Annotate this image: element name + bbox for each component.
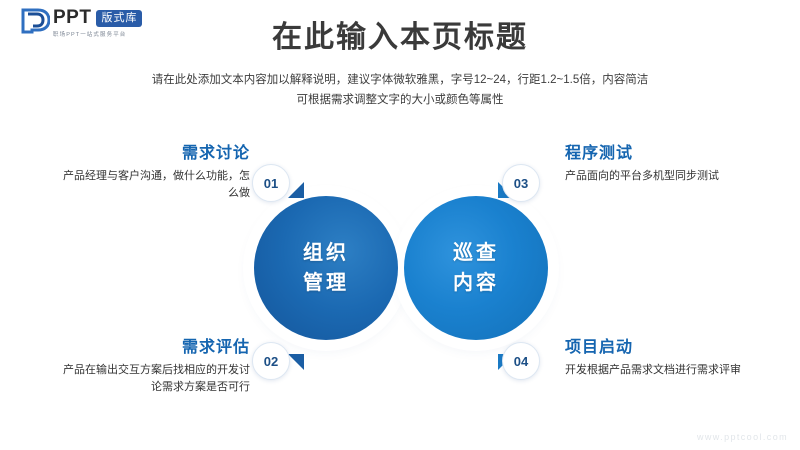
page-title: 在此输入本页标题: [0, 18, 800, 58]
item-04-body: 开发根据产品需求文档进行需求评审: [565, 362, 755, 379]
item-04-title: 项目启动: [565, 338, 755, 358]
step-badge-02[interactable]: 02: [252, 342, 290, 380]
connector-wedge-bottom-left: [288, 354, 304, 370]
circle-right-line1: 巡查: [453, 238, 499, 268]
circle-left-line2: 管理: [303, 268, 349, 298]
page-subtitle: 请在此处添加文本内容加以解释说明，建议字体微软雅黑，字号12~24，行距1.2~…: [0, 70, 800, 110]
item-03: 程序测试 产品面向的平台多机型同步测试: [565, 144, 755, 185]
item-02: 需求评估 产品在输出交互方案后找相应的开发讨论需求方案是否可行: [60, 338, 250, 396]
item-01-body: 产品经理与客户沟通，做什么功能，怎么做: [60, 168, 250, 202]
step-badge-04[interactable]: 04: [502, 342, 540, 380]
venn-diagram: 巡查 内容 组织 管理 01 02 03 04 需求讨论 产品经理与客户沟通，做…: [0, 130, 800, 430]
item-02-title: 需求评估: [60, 338, 250, 358]
circle-right[interactable]: 巡查 内容: [404, 196, 548, 340]
step-badge-03[interactable]: 03: [502, 164, 540, 202]
step-badge-01[interactable]: 01: [252, 164, 290, 202]
watermark: www.pptcool.com: [697, 432, 788, 442]
item-02-body: 产品在输出交互方案后找相应的开发讨论需求方案是否可行: [60, 362, 250, 396]
item-01-title: 需求讨论: [60, 144, 250, 164]
connector-wedge-top-left: [288, 182, 304, 198]
circle-left[interactable]: 组织 管理: [254, 196, 398, 340]
page-subtitle-line2: 可根据需求调整文字的大小或颜色等属性: [0, 90, 800, 110]
page-subtitle-line1: 请在此处添加文本内容加以解释说明，建议字体微软雅黑，字号12~24，行距1.2~…: [152, 74, 648, 86]
circle-right-line2: 内容: [453, 268, 499, 298]
item-04: 项目启动 开发根据产品需求文档进行需求评审: [565, 338, 755, 379]
item-03-title: 程序测试: [565, 144, 755, 164]
item-01: 需求讨论 产品经理与客户沟通，做什么功能，怎么做: [60, 144, 250, 202]
item-03-body: 产品面向的平台多机型同步测试: [565, 168, 755, 185]
circle-left-line1: 组织: [303, 238, 349, 268]
